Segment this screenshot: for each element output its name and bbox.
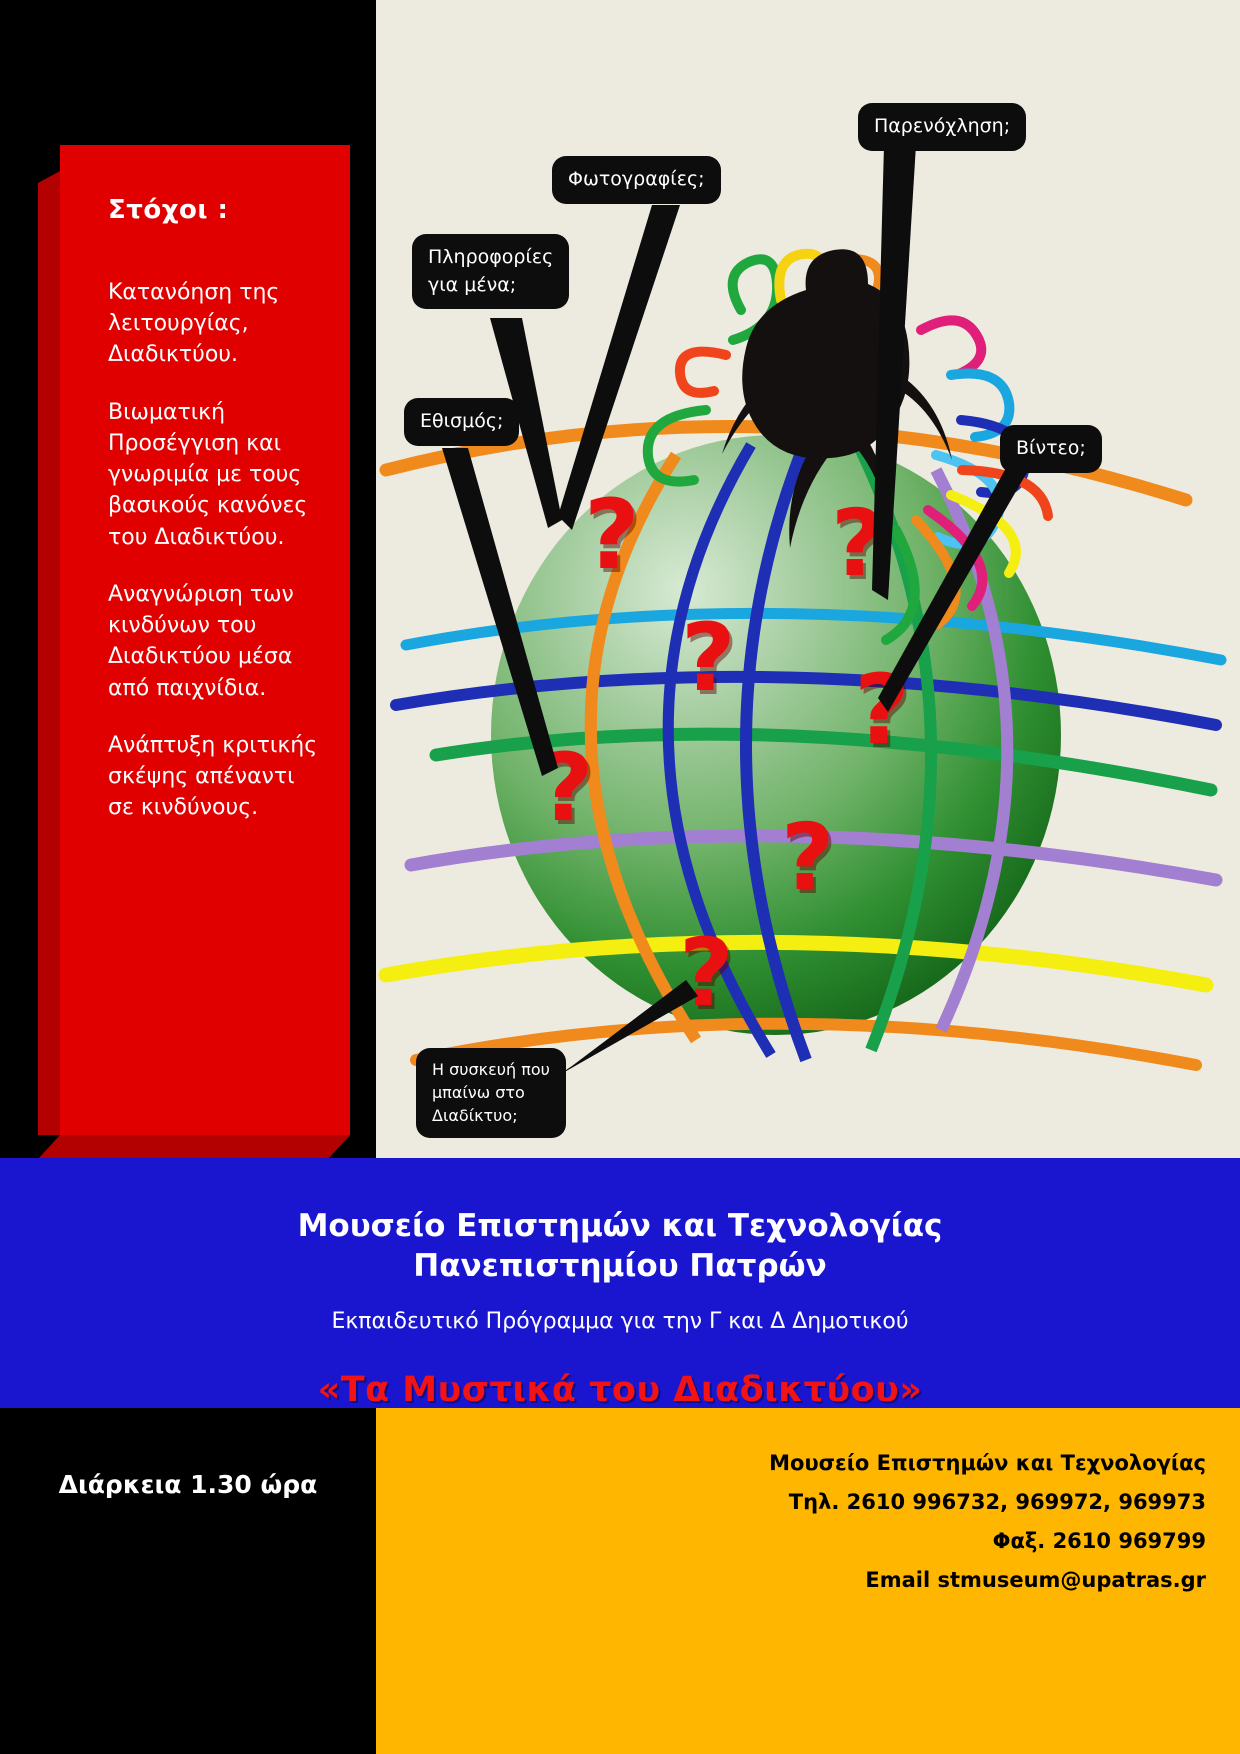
question-mark-2: ? <box>681 612 736 706</box>
footer-left-block <box>0 1408 376 1754</box>
institution-band: Μουσείο Επιστημών και Τεχνολογίας Πανεπι… <box>0 1158 1240 1408</box>
program-title: «Τα Μυστικά του Διαδικτύου» <box>0 1370 1240 1410</box>
contact-info: Μουσείο Επιστημών και Τεχνολογίας Τηλ. 2… <box>769 1444 1206 1599</box>
poster-root: Στόχοι : Κατανόηση της λειτουργίας, Διαδ… <box>0 0 1240 1754</box>
illustration-stage: ? ? ? ? ? ? ? Παρενόχληση; <box>376 0 1240 1158</box>
bubble-photos[interactable]: Φωτογραφίες; <box>552 156 721 204</box>
objective-item-3: Αναγνώριση των κινδύνων του Διαδικτύου μ… <box>108 579 324 704</box>
question-mark-4: ? <box>854 662 910 758</box>
bubble-addiction[interactable]: Εθισμός; <box>404 398 519 446</box>
question-mark-7: ? <box>679 927 734 1021</box>
bubble-device[interactable]: Η συσκευή που μπαίνω στο Διαδίκτυο; <box>416 1048 566 1138</box>
institution-line-2: Πανεπιστημίου Πατρών <box>0 1246 1240 1286</box>
globe-illustration <box>376 0 1240 1158</box>
contact-email: Email stmuseum@upatras.gr <box>769 1561 1206 1600</box>
objective-item-2: Βιωματική Προσέγγιση και γνωριμία με του… <box>108 397 324 553</box>
objectives-title: Στόχοι : <box>108 195 324 225</box>
institution-line-1: Μουσείο Επιστημών και Τεχνολογίας <box>0 1206 1240 1246</box>
bubble-info-about-me[interactable]: Πληροφορίες για μένα; <box>412 234 569 309</box>
bubble-video[interactable]: Βίντεο; <box>1000 425 1102 473</box>
bubble-harassment[interactable]: Παρενόχληση; <box>858 103 1026 151</box>
contact-name: Μουσείο Επιστημών και Τεχνολογίας <box>769 1444 1206 1483</box>
question-mark-3: ? <box>831 498 884 590</box>
program-subtitle: Εκπαιδευτικό Πρόγραμμα για την Γ και Δ Δ… <box>0 1309 1240 1334</box>
objectives-card: Στόχοι : Κατανόηση της λειτουργίας, Διαδ… <box>60 145 350 1135</box>
footer-contact-block: Μουσείο Επιστημών και Τεχνολογίας Τηλ. 2… <box>376 1408 1240 1754</box>
contact-phone: Τηλ. 2610 996732, 969972, 969973 <box>769 1483 1206 1522</box>
objective-item-1: Κατανόηση της λειτουργίας, Διαδικτύου. <box>108 277 324 371</box>
objective-item-4: Ανάπτυξη κριτικής σκέψης απέναντι σε κιν… <box>108 730 324 824</box>
question-mark-1: ? <box>584 487 640 583</box>
question-mark-6: ? <box>781 812 834 904</box>
duration-label: Διάρκεια 1.30 ώρα <box>0 1470 376 1499</box>
contact-fax: Φαξ. 2610 969799 <box>769 1522 1206 1561</box>
question-mark-5: ? <box>539 742 594 836</box>
